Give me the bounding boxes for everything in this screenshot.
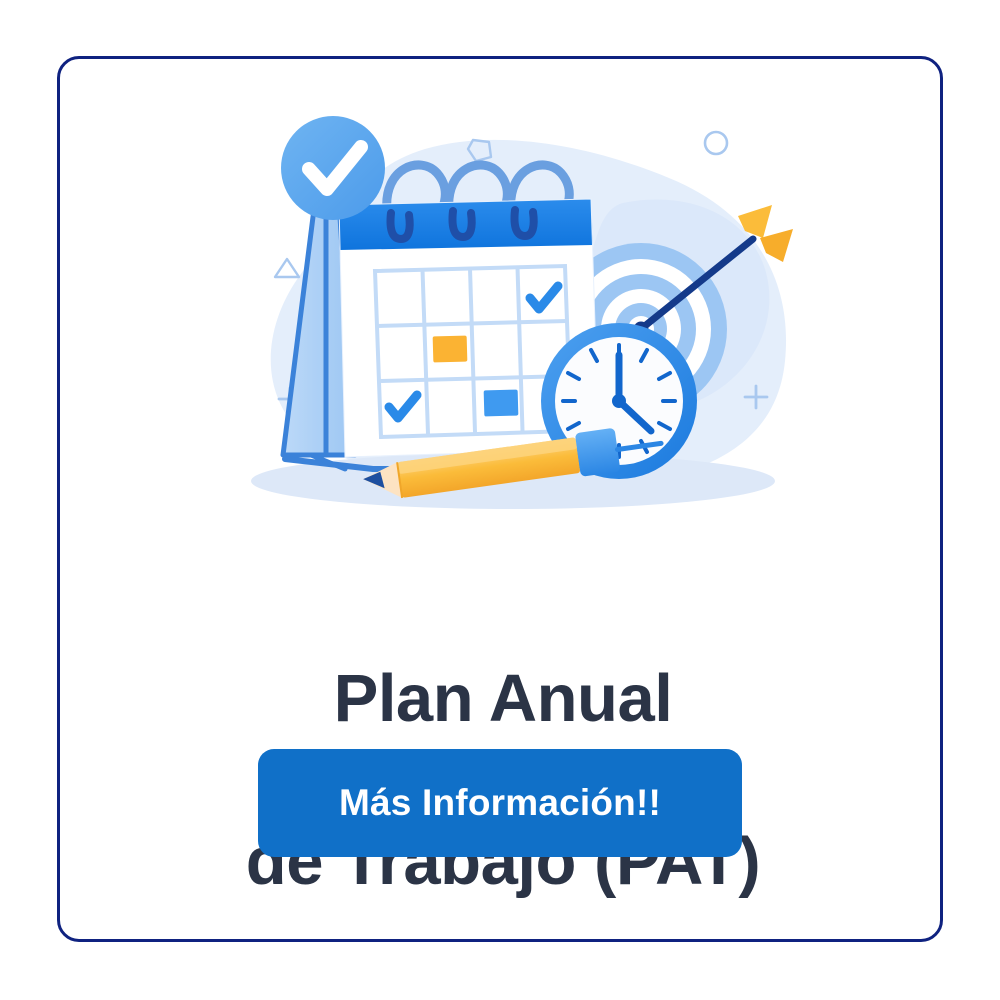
info-card: Plan Anual de Trabajo (PAT) Más Informac… bbox=[57, 56, 943, 942]
calendar-block-orange-r2c2 bbox=[433, 336, 468, 363]
more-info-button[interactable]: Más Información!! bbox=[258, 749, 742, 857]
check-badge-icon bbox=[281, 116, 385, 220]
card-content: Plan Anual de Trabajo (PAT) Más Informac… bbox=[60, 59, 940, 939]
annual-work-plan-illustration bbox=[193, 93, 813, 523]
decor-circle-icon bbox=[705, 132, 727, 154]
calendar-block-blue-r3c3 bbox=[484, 390, 519, 417]
decor-triangle-icon bbox=[275, 259, 299, 277]
page-title-line-1: Plan Anual bbox=[60, 658, 946, 740]
